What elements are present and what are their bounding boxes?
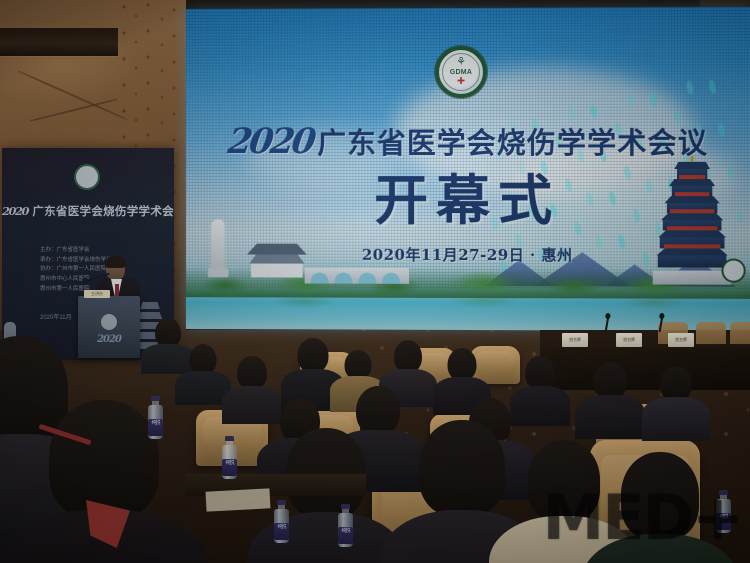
poster-year: 2020 [2, 204, 28, 218]
poster-credit-line: 主办：广东省医学会 [40, 246, 117, 256]
name-card: 姓名牌 [668, 333, 694, 347]
water-bottle: 纯悦 [338, 504, 353, 547]
name-card: 姓名牌 [562, 333, 588, 347]
screen-date-line: 2020年11月27-29日 · 惠州 [186, 244, 750, 266]
stone-bridge-graphic [305, 268, 409, 284]
water-bottle: 纯悦 [274, 500, 289, 543]
podium-logo-icon [101, 314, 117, 330]
bottle-label: 纯悦 [148, 419, 163, 436]
water-bottle: 纯悦 [222, 436, 237, 479]
screen-subtitle: 开幕式 [186, 156, 750, 236]
speaker-podium: 主讲台 2020 [78, 296, 140, 358]
poster-title: 2020 广东省医学会烧伤学学术会议 [2, 203, 174, 219]
bottle-label: 纯悦 [338, 527, 353, 544]
caduceus-icon: ⚘ [456, 57, 466, 68]
gdma-emblem-icon: ⚘ GDMA [435, 46, 487, 98]
wall-trim-band [0, 28, 118, 56]
water-bottle: 纯悦 [148, 396, 163, 439]
poster-emblem-icon [74, 164, 100, 190]
head-table: 姓名牌 姓名牌 姓名牌 [540, 330, 750, 390]
name-card: 姓名牌 [616, 333, 642, 347]
led-stage-screen: ⚘ GDMA 2020 广东省医学会烧伤学学术会议 开幕式 2020年11月27… [186, 7, 750, 331]
conference-photo: ⚘ GDMA 2020 广东省医学会烧伤学学术会议 开幕式 2020年11月27… [0, 0, 750, 563]
screen-corner-logo [721, 259, 745, 283]
watermark: MED+ [543, 487, 742, 549]
poster-title-text: 广东省医学会烧伤学学术会议 [32, 204, 174, 218]
bottle-label: 纯悦 [222, 459, 237, 476]
paper-handout [206, 488, 271, 511]
water-reflection [186, 297, 750, 323]
podium-nameplate: 主讲台 [84, 290, 110, 298]
bottle-label: 纯悦 [274, 523, 289, 540]
podium-logo-text: 2020 [97, 334, 121, 345]
poster-date: 2020年11月 [40, 312, 72, 321]
